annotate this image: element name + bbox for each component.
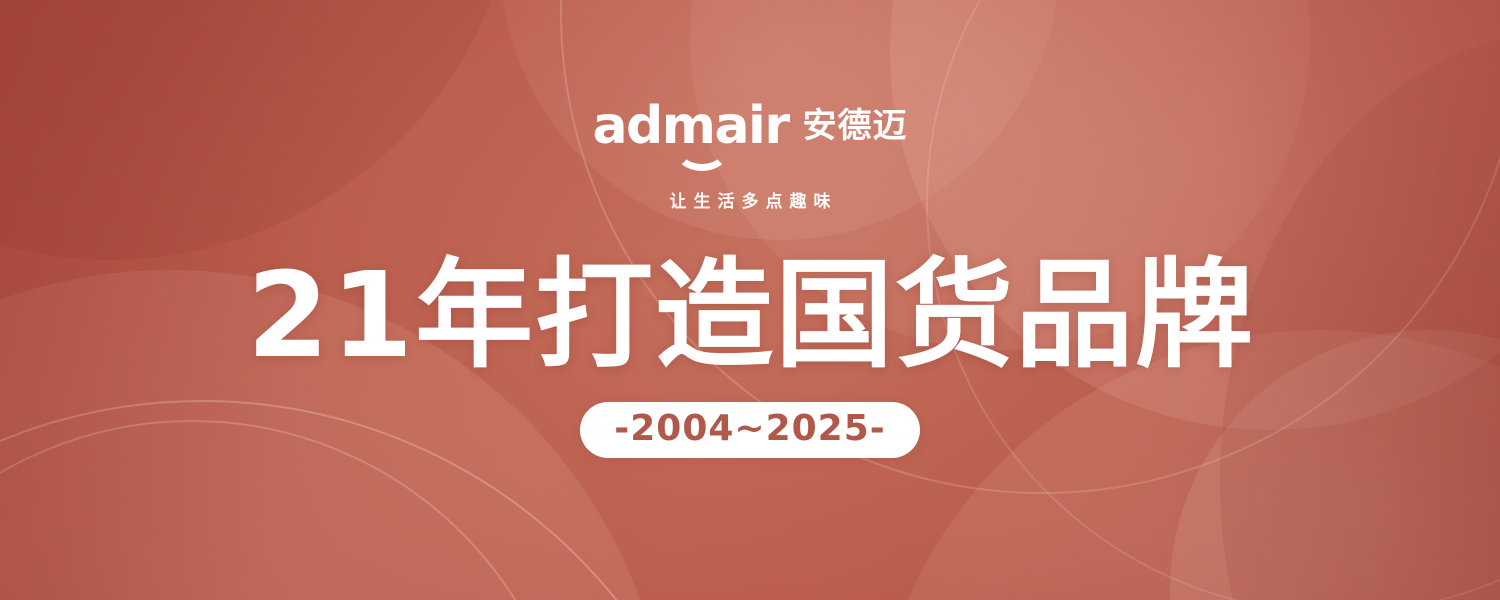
year-range-badge: -2004~2025- [580, 402, 919, 458]
brand-logo-lockup: admair 安德迈 [592, 98, 907, 151]
page-title: 21年打造国货品牌 [245, 254, 1255, 378]
brand-chinese-name: 安德迈 [803, 98, 908, 151]
brand-tagline: 让生活多点趣味 [663, 187, 838, 212]
brand-anniversary-banner: admair 安德迈 让生活多点趣味 21年打造国货品牌 -2004~2025- [0, 0, 1500, 600]
brand-wordmark-text: admair [592, 96, 788, 156]
banner-content: admair 安德迈 让生活多点趣味 21年打造国货品牌 -2004~2025- [0, 0, 1500, 600]
brand-wordmark: admair [592, 103, 788, 151]
smile-arc-icon [675, 151, 729, 171]
